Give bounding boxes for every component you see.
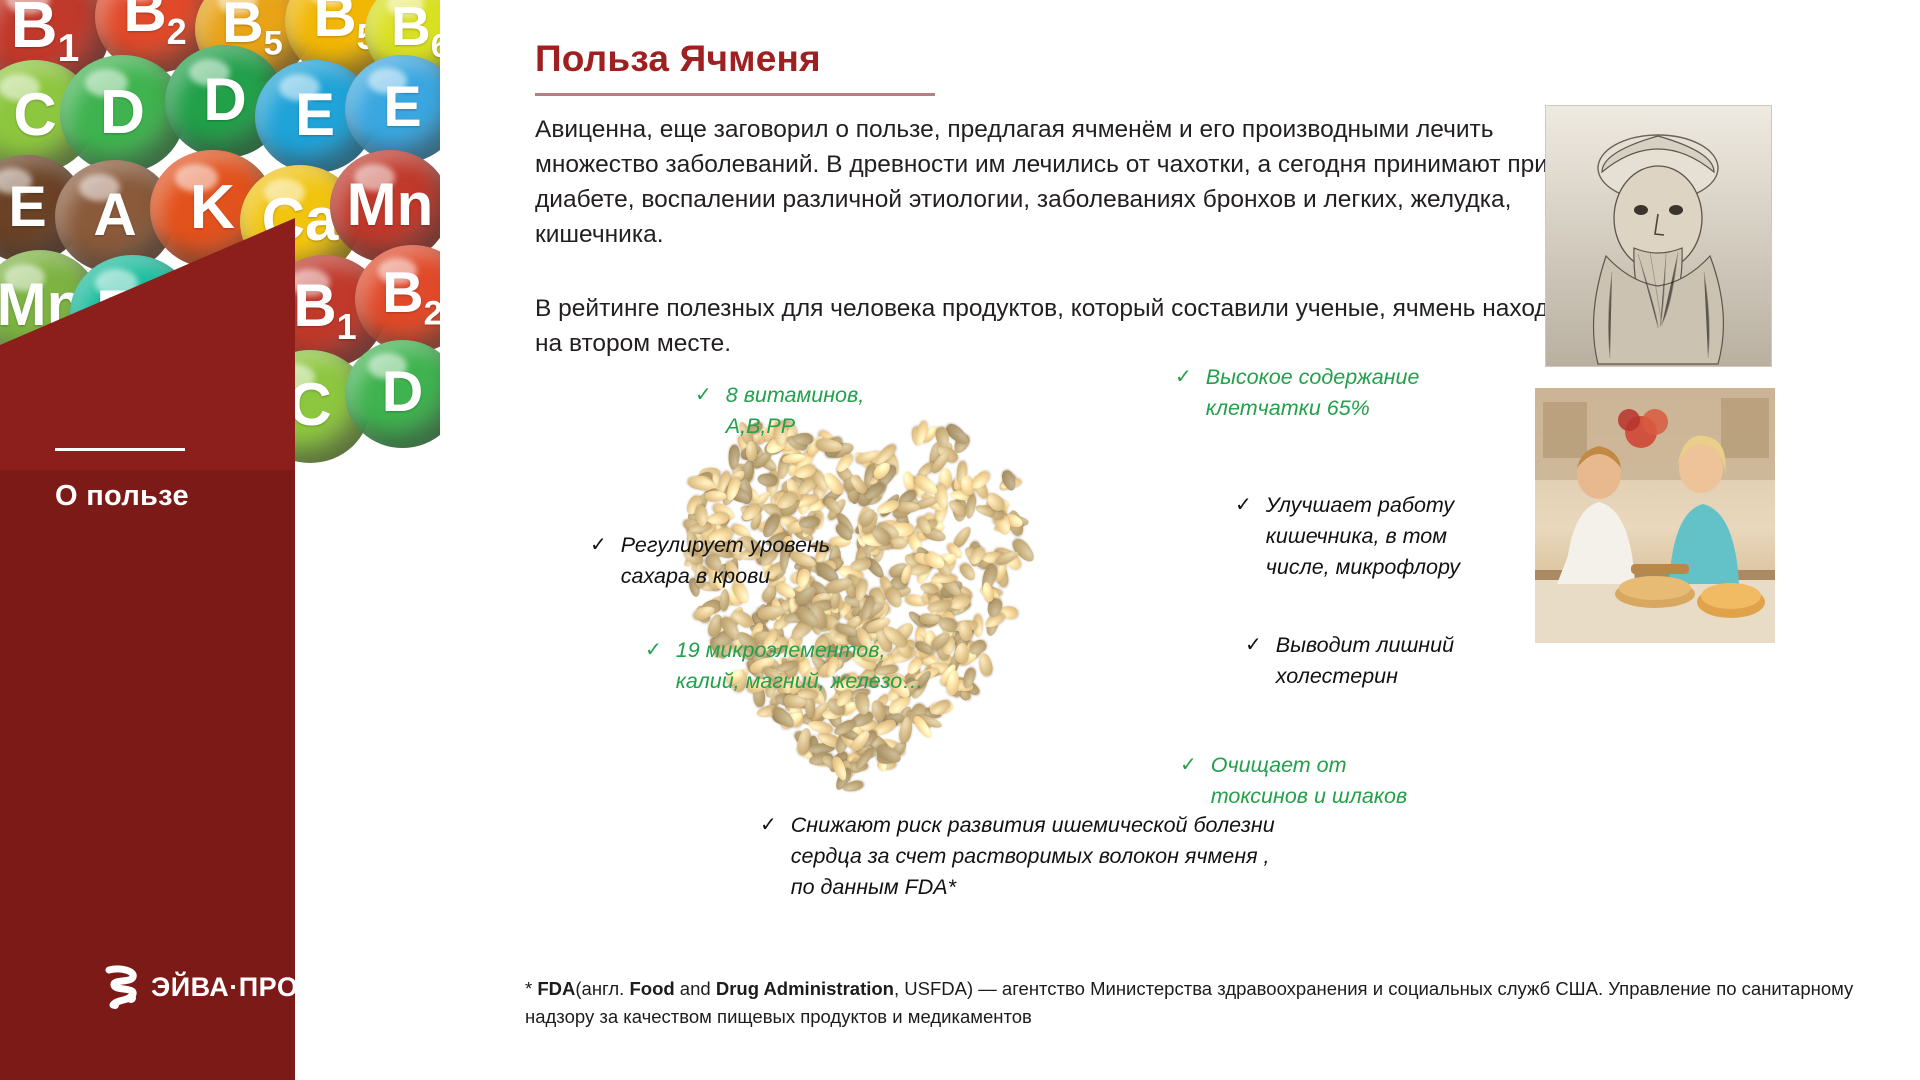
check-icon: ✓: [645, 635, 662, 697]
intro-paragraph-1: Авиценна, еще заговорил о пользе, предла…: [535, 112, 1600, 252]
check-icon: ✓: [1175, 362, 1192, 424]
bullet-gut-flora: ✓ Улучшает работу кишечника, в том числе…: [1235, 490, 1505, 583]
bullet-fiber: ✓ Высокое содержание клетчатки 65%: [1175, 362, 1475, 424]
bullet-vitamins: ✓ 8 витаминов, А,В,РР: [695, 380, 920, 442]
footnote-prefix: *: [525, 978, 537, 999]
bullet-toxins: ✓ Очищает от токсинов и шлаков: [1180, 750, 1410, 812]
title-underline: [535, 93, 935, 96]
bullet-text: 8 витаминов, А,В,РР: [726, 380, 920, 442]
check-icon: ✓: [1235, 490, 1252, 583]
bullet-text: Высокое содержание клетчатки 65%: [1206, 362, 1475, 424]
intro-paragraph-2: В рейтинге полезных для человека продукт…: [535, 291, 1600, 361]
bullet-text: Снижают риск развития ишемической болезн…: [791, 810, 1280, 903]
footnote-food: Food: [629, 978, 674, 999]
bullet-heart-disease: ✓ Снижают риск развития ишемической боле…: [760, 810, 1280, 903]
bullet-text: 19 микроэлементов, калий, магний, железо…: [676, 635, 945, 697]
check-icon: ✓: [695, 380, 712, 442]
brand-logo: ЭЙВА·ПРО: [105, 965, 298, 1009]
footnote-drug-administration: Drug Administration: [716, 978, 894, 999]
logo-text: ЭЙВА·ПРО: [151, 972, 298, 1003]
bullet-text: Регулирует уровень сахара в крови: [621, 530, 855, 592]
slide-root: B1B2B5B5B6CDDEEEAKCaMnMnFePB1B2B5B5B6CD …: [0, 0, 1920, 1080]
bullet-microelements: ✓ 19 микроэлементов, калий, магний, желе…: [645, 635, 945, 697]
check-icon: ✓: [590, 530, 607, 592]
page-title: Польза Ячменя: [535, 38, 821, 80]
check-icon: ✓: [1180, 750, 1197, 812]
section-label: О пользе: [55, 480, 189, 513]
footnote-mid2: and: [675, 978, 716, 999]
barley-grain: [977, 652, 994, 677]
bullet-text: Выводит лишний холестерин: [1276, 630, 1495, 692]
check-icon: ✓: [1245, 630, 1262, 692]
bullet-text: Улучшает работу кишечника, в том числе, …: [1266, 490, 1505, 583]
bullet-text: Очищает от токсинов и шлаков: [1211, 750, 1410, 812]
main-content: Польза Ячменя Авиценна, еще заговорил о …: [440, 0, 1920, 1080]
kitchen-couple-svg: [1535, 388, 1775, 643]
footnote: * FDA(англ. Food and Drug Administration…: [525, 975, 1920, 1031]
left-sidebar: B1B2B5B5B6CDDEEEAKCaMnMnFePB1B2B5B5B6CD …: [0, 0, 440, 1080]
panel-divider-rule: [55, 448, 185, 451]
barley-grain: [746, 441, 757, 462]
barley-grain: [954, 642, 968, 663]
footnote-mid1: (англ.: [575, 978, 629, 999]
bullet-blood-sugar: ✓ Регулирует уровень сахара в крови: [590, 530, 855, 592]
footnote-fda: FDA: [537, 978, 575, 999]
logo-mark-icon: [105, 965, 139, 1009]
check-icon: ✓: [760, 810, 777, 903]
avicenna-portrait-svg: [1546, 106, 1771, 366]
couple-in-kitchen-photo: [1535, 388, 1775, 643]
avicenna-portrait-photo: [1545, 105, 1772, 367]
bullet-cholesterol: ✓ Выводит лишний холестерин: [1245, 630, 1495, 692]
